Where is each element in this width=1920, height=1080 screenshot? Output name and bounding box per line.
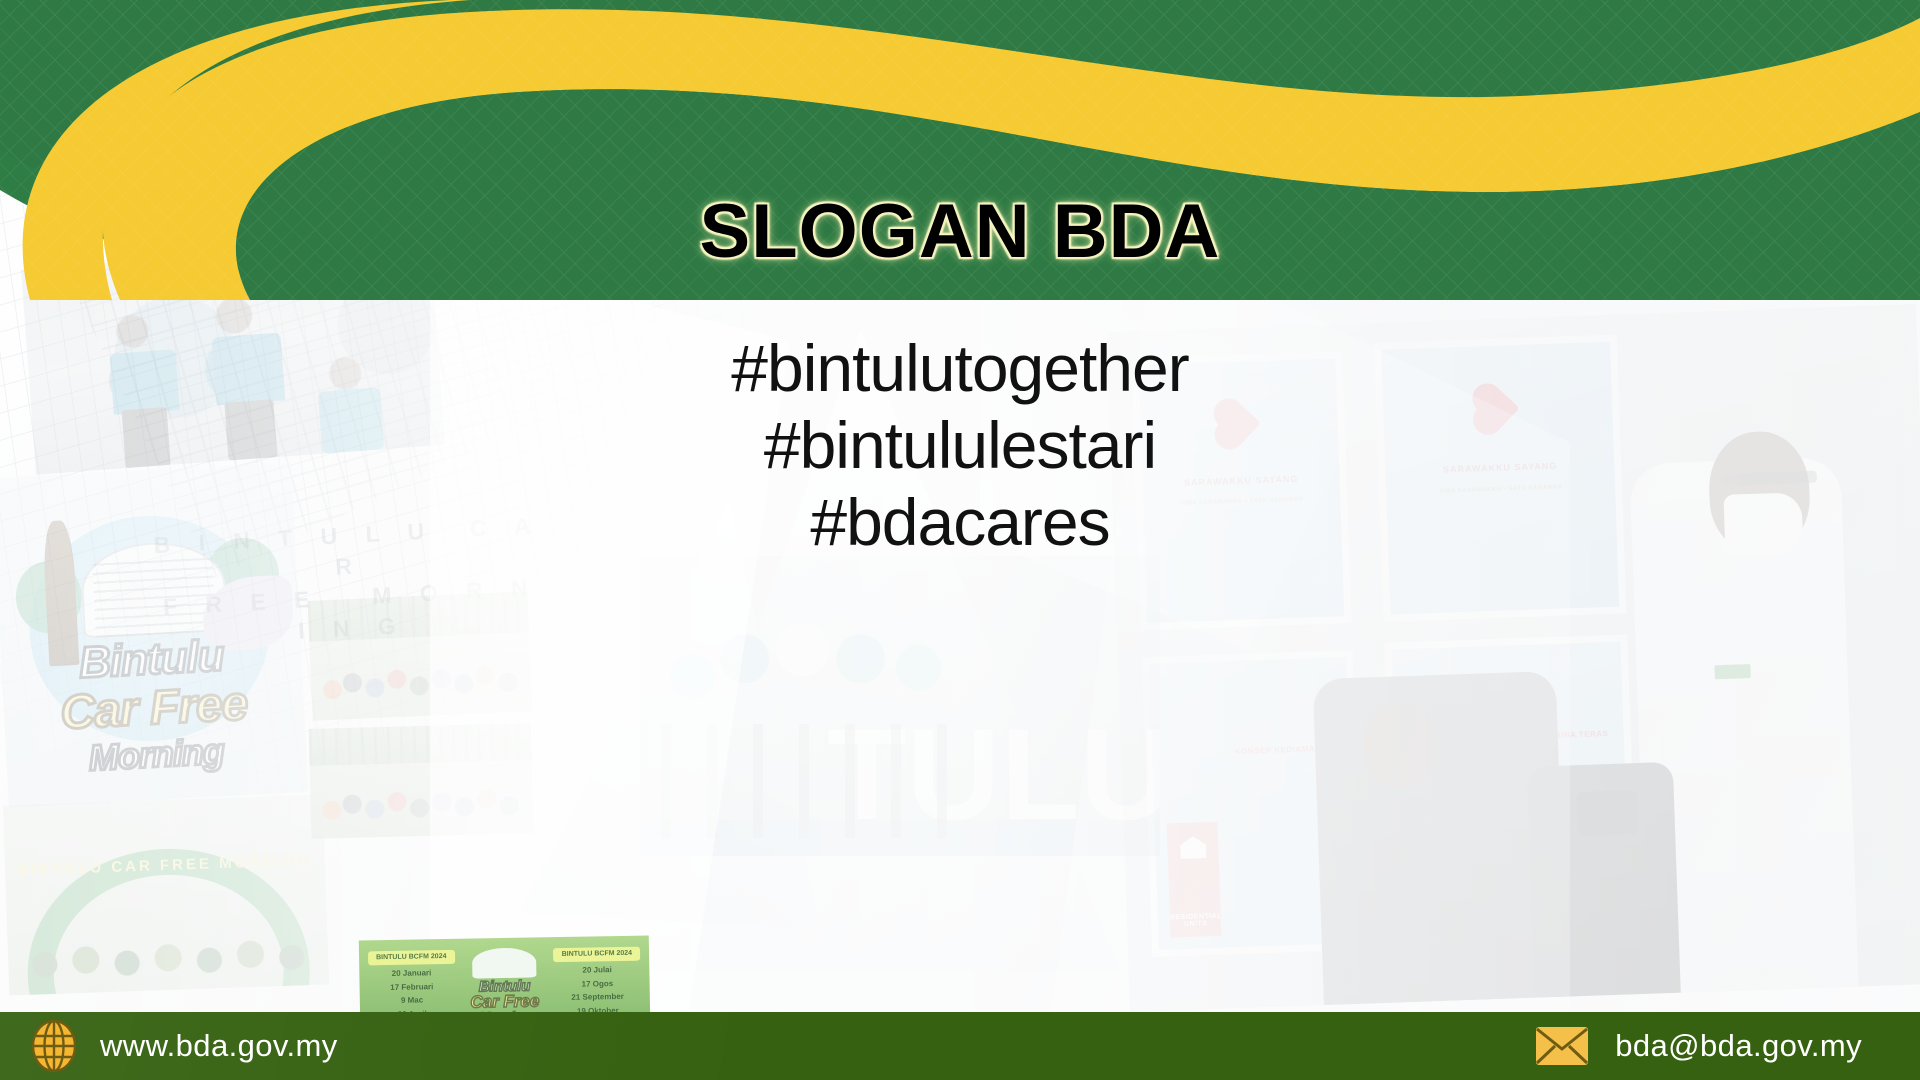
calendar-logo-dome bbox=[472, 947, 537, 978]
page-title: SLOGAN BDA bbox=[0, 188, 1920, 275]
hashtag-line-3: #bdacares bbox=[0, 484, 1920, 561]
calendar-badge-right: BINTULU BCFM 2024 bbox=[553, 947, 640, 962]
hashtag-line-1: #bintulutogether bbox=[0, 330, 1920, 407]
photo-arch-group: BINTULU CAR FREE MORNING bbox=[3, 794, 329, 995]
footer-website-text[interactable]: www.bda.gov.my bbox=[100, 1028, 338, 1064]
uniform-badge bbox=[1714, 664, 1750, 679]
slide-root: SARAWAKKU SAYANG JIWA SARAWAKKU • SATU S… bbox=[0, 0, 1920, 1080]
calendar-badge-left: BINTULU BCFM 2024 bbox=[368, 950, 455, 965]
monument-letter: L bbox=[1001, 722, 1080, 826]
footer-bar: www.bda.gov.my bda@bda.gov.my bbox=[0, 1012, 1920, 1080]
footer-website-group[interactable]: www.bda.gov.my bbox=[30, 1019, 338, 1073]
arch-crowd bbox=[20, 916, 316, 991]
footer-email-group[interactable]: bda@bda.gov.my bbox=[1535, 1026, 1862, 1066]
hashtag-line-2: #bintululestari bbox=[0, 407, 1920, 484]
hashtag-block: #bintulutogether #bintululestari #bdacar… bbox=[0, 330, 1920, 562]
envelope-icon bbox=[1535, 1026, 1589, 1066]
footer-email-text[interactable]: bda@bda.gov.my bbox=[1615, 1028, 1862, 1064]
camera-body bbox=[1576, 790, 1637, 836]
globe-icon bbox=[30, 1019, 78, 1073]
